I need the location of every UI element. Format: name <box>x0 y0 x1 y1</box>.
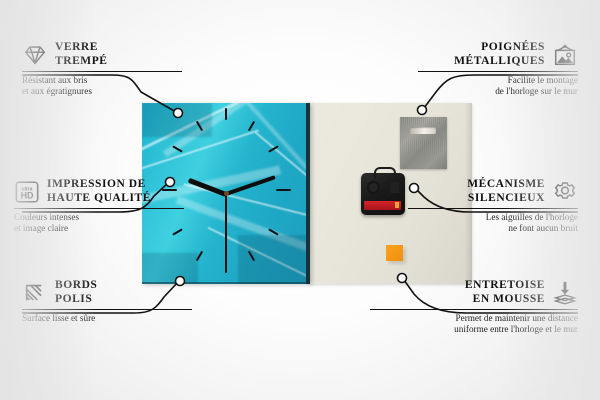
foam-spacer-icon <box>552 280 578 306</box>
callout-sub-line1: Surface lisse et sûre <box>22 313 95 323</box>
callout-rule <box>22 309 192 310</box>
mechanism-dial <box>367 181 380 194</box>
callout-title-line2: HAUTE QUALITÉ <box>47 192 151 204</box>
callout-sub-line2: et aux égratignures <box>22 86 92 96</box>
ultra-hd-icon-bottom: HD <box>21 190 34 200</box>
callout-title-line1: POIGNÉES <box>481 41 545 53</box>
clock-mechanism <box>361 173 405 215</box>
diamond-icon <box>22 42 48 68</box>
callout-sub-line2: uniforme entre l'horloge et le mur <box>454 324 578 334</box>
callout-title-line1: ENTRETOISE <box>465 279 545 291</box>
picture-frame-icon <box>552 42 578 68</box>
battery <box>364 201 401 210</box>
callout-poignees-metalliques: POIGNÉES MÉTALLIQUES Facilite le montage… <box>418 41 578 97</box>
ultra-hd-icon: ultra HD <box>14 179 40 205</box>
gear-icon <box>552 179 578 205</box>
callout-rule <box>370 309 578 310</box>
callout-title-line1: MÉCANISME <box>467 178 545 190</box>
callout-title-line2: POLIS <box>55 293 92 305</box>
hanger-slot <box>410 127 436 134</box>
callout-sub-line1: Couleurs intenses <box>14 212 79 222</box>
callout-rule <box>418 71 578 72</box>
clock-center-pin <box>224 191 229 196</box>
callout-mecanisme-silencieux: MÉCANISME SILENCIEUX Les aiguilles de l'… <box>408 178 578 234</box>
metallic-hanger-plate <box>400 117 447 169</box>
callout-title-line1: VERRE <box>55 41 98 53</box>
callout-title-line2: MÉTALLIQUES <box>454 55 545 67</box>
mechanism-block <box>390 182 399 193</box>
callout-impression-haute-qualite: ultra HD IMPRESSION DE HAUTE QUALITÉ Cou… <box>14 178 184 234</box>
callout-rule <box>14 208 184 209</box>
callout-sub-line2: ne font aucun bruit <box>508 223 578 233</box>
callout-title-line2: SILENCIEUX <box>468 192 545 204</box>
callout-sub-line1: Les aiguilles de l'horloge <box>486 212 578 222</box>
callout-sub-line1: Résistant aux bris <box>22 75 87 85</box>
mechanism-hook <box>374 167 396 179</box>
callout-bords-polis: BORDS POLIS Surface lisse et sûre <box>22 279 192 324</box>
callout-verre-trempe: VERRE TREMPÉ Résistant aux bris et aux é… <box>22 41 182 97</box>
callout-rule <box>22 71 182 72</box>
callout-title-line2: TREMPÉ <box>55 55 108 67</box>
callout-rule <box>408 208 578 209</box>
callout-title-line1: BORDS <box>55 279 97 291</box>
second-hand <box>225 194 227 264</box>
callout-entretoise-en-mousse: ENTRETOISE EN MOUSSE Permet de maintenir… <box>370 279 578 335</box>
polished-edges-icon <box>22 280 48 306</box>
callout-sub-line1: Permet de maintenir une distance <box>456 313 578 323</box>
hour-marker <box>225 108 227 120</box>
clock-edge <box>306 103 310 284</box>
foam-spacer <box>386 245 403 261</box>
callout-sub-line2: et image claire <box>14 223 68 233</box>
hour-marker <box>276 189 291 191</box>
callout-title-line2: EN MOUSSE <box>473 293 545 305</box>
callout-title-line1: IMPRESSION DE <box>47 178 146 190</box>
callout-sub-line2: de l'horloge sur le mur <box>495 86 578 96</box>
callout-sub-line1: Facilite le montage <box>508 75 578 85</box>
infographic-canvas: VERRE TREMPÉ Résistant aux bris et aux é… <box>0 0 600 400</box>
